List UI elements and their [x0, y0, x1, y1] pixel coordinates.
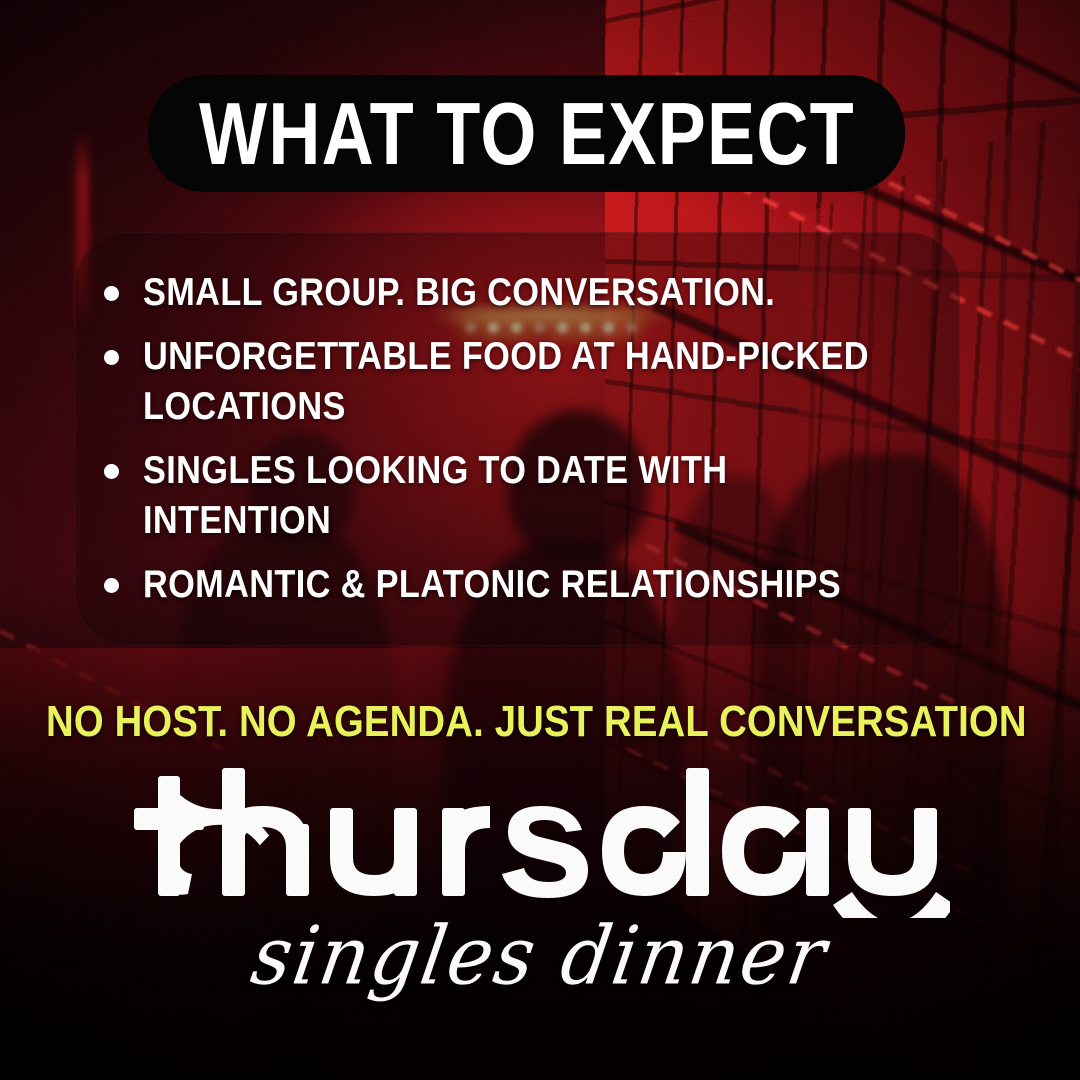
list-item: Romantic & platonic relationships	[104, 560, 984, 610]
expectations-list: Small group. Big conversation. Unforgett…	[104, 268, 984, 623]
bullet-dot-icon	[104, 578, 119, 593]
promo-graphic: WHAT TO EXPECT Small group. Big conversa…	[0, 0, 1080, 1080]
list-item-label: Romantic & platonic relationships	[143, 560, 841, 610]
bullet-dot-icon	[104, 464, 119, 479]
page-title: WHAT TO EXPECT	[199, 90, 855, 178]
list-item-label: Small group. Big conversation.	[143, 268, 775, 318]
list-item: Unforgettable food at hand-picked locati…	[104, 332, 984, 432]
thursday-wordmark	[130, 768, 950, 918]
brand-tagline-script: singles dinner	[0, 918, 1080, 994]
bullet-dot-icon	[104, 286, 119, 301]
bullet-dot-icon	[104, 350, 119, 365]
title-pill: WHAT TO EXPECT	[148, 75, 905, 192]
list-item-label: Singles looking to date with intention	[143, 446, 883, 546]
brand-tagline-text: singles dinner	[247, 916, 833, 997]
list-item-label: Unforgettable food at hand-picked locati…	[143, 332, 883, 432]
list-item: Small group. Big conversation.	[104, 268, 984, 318]
tagline: NO HOST. NO AGENDA. JUST REAL CONVERSATI…	[46, 700, 916, 744]
content-layer: WHAT TO EXPECT Small group. Big conversa…	[0, 0, 1080, 1080]
list-item: Singles looking to date with intention	[104, 446, 984, 546]
